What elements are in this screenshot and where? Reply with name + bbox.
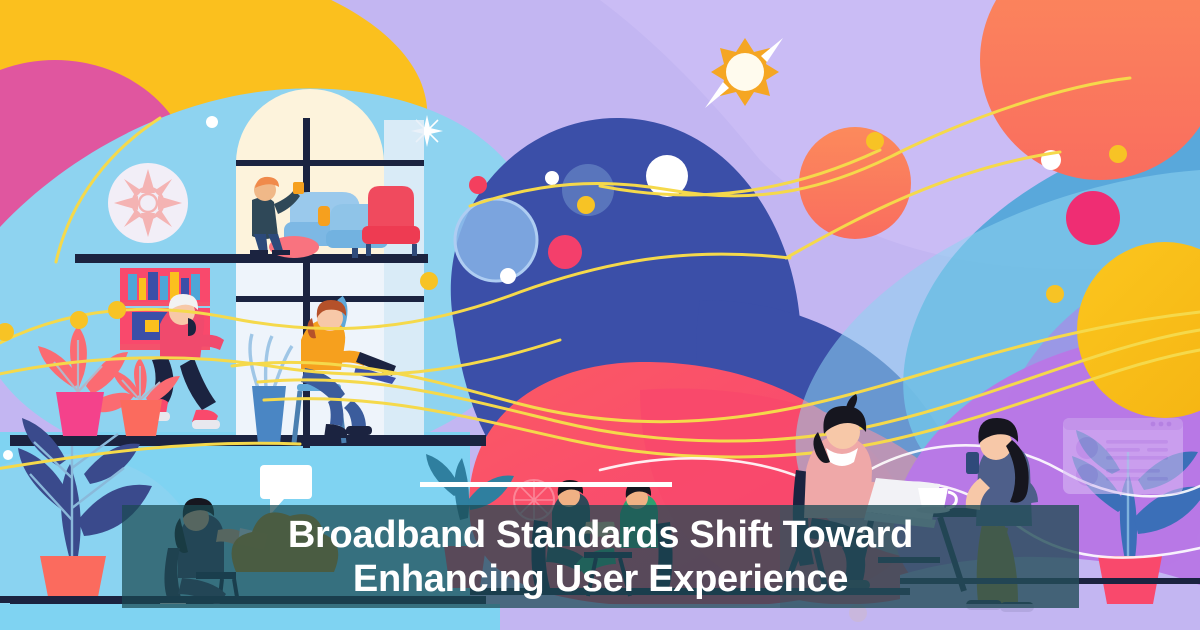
title-overlay-bar: Broadband Standards Shift Toward Enhanci… [122, 505, 1079, 608]
title-divider [420, 482, 672, 487]
white-dot-e [3, 450, 13, 460]
white-dot-a [545, 171, 559, 185]
hot-pink-circle-right [1066, 191, 1120, 245]
mandala-sun-icon [108, 163, 188, 243]
white-dot-b [500, 268, 516, 284]
browser-card-mockup [1063, 418, 1183, 494]
white-dot-c [206, 116, 218, 128]
pink-dot-navy [548, 235, 582, 269]
banner-image: Broadband Standards Shift Toward Enhanci… [0, 0, 1200, 630]
page-title: Broadband Standards Shift Toward Enhanci… [122, 513, 1079, 601]
